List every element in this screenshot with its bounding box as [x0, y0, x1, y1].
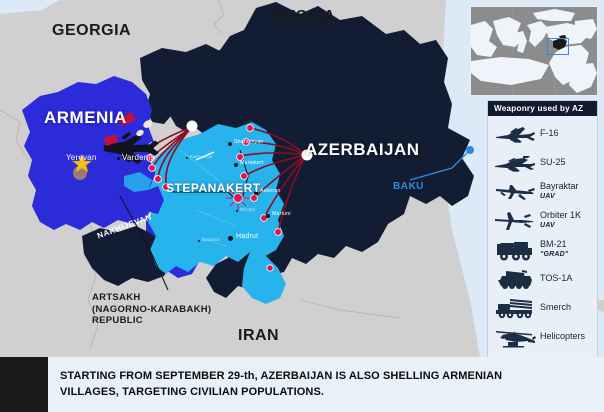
artsakh-callout-line3: REPUBLIC [92, 315, 211, 327]
legend-item-orbiter1k: Orbiter 1K UAV [488, 206, 597, 235]
legend-item-su25: SU-25 [488, 148, 597, 177]
caption-accent-tab [0, 357, 48, 412]
legend-item-label: F-16 [540, 129, 559, 139]
legend-item-label: Orbiter 1K [540, 210, 581, 220]
drone-icon [493, 179, 537, 205]
legend-item-label: TOS-1A [540, 274, 572, 284]
infographic-root: Yerevan Vardenis Shahumyan Martakert Ask… [0, 0, 604, 412]
legend-item-sublabel: UAV [540, 193, 555, 200]
legend-item-f16: F-16 [488, 119, 597, 148]
legend-item-sublabel: UAV [540, 222, 555, 229]
caption-text: STARTING FROM SEPTEMBER 29-th, AZERBAIJA… [48, 369, 502, 400]
artsakh-callout: ARTSAKH (NAGORNO-KARABAKH) REPUBLIC [92, 292, 211, 327]
locator-inset-graphic [471, 7, 597, 95]
legend-list: F-16 SU-25 [488, 116, 597, 351]
city-dot-martakert [234, 163, 238, 167]
locator-inset-map [470, 6, 598, 96]
city-dot-askeran [254, 191, 258, 195]
legend-item-bayraktar: Bayraktar UAV [488, 177, 597, 206]
drone-icon [493, 208, 537, 234]
mlrs-truck-icon [493, 295, 537, 321]
city-dot-shahumyan [228, 142, 232, 146]
legend-item-label: BM-21 [540, 239, 567, 249]
legend-title: Weaponry used by AZ [488, 101, 597, 116]
legend-panel: Weaponry used by AZ F-16 [487, 100, 598, 358]
helicopter-icon [493, 324, 537, 350]
locator-highlight-box [547, 38, 569, 55]
legend-item-label: Bayraktar [540, 181, 579, 191]
city-dot-hadrut [228, 236, 233, 241]
caption-bar: STARTING FROM SEPTEMBER 29-th, AZERBAIJA… [0, 357, 604, 412]
caption-line-2: VILLAGES, TARGETING CIVILIAN POPULATIONS… [60, 385, 502, 401]
city-dot-vardenis [117, 157, 120, 160]
city-dot-martuni [266, 214, 270, 218]
legend-item-helicopters: Helicopters [488, 322, 597, 351]
legend-item-tos1a: TOS-1A [488, 264, 597, 293]
legend-item-label: Helicopters [540, 332, 585, 342]
legend-item-sublabel: "GRAD" [540, 251, 568, 258]
legend-item-bm21: BM-21 "GRAD" [488, 235, 597, 264]
rocket-truck-icon [493, 237, 537, 263]
flamethrower-icon [493, 266, 537, 292]
fighter-jet-icon [493, 121, 537, 147]
artsakh-callout-line2: (NAGORNO-KARABAKH) [92, 304, 211, 316]
artsakh-callout-line1: ARTSAKH [92, 292, 211, 304]
legend-item-label: SU-25 [540, 158, 566, 168]
attack-jet-icon [493, 150, 537, 176]
legend-item-label: Smerch [540, 303, 571, 313]
legend-item-smerch: Smerch [488, 293, 597, 322]
caption-line-1: STARTING FROM SEPTEMBER 29-th, AZERBAIJA… [60, 369, 502, 385]
